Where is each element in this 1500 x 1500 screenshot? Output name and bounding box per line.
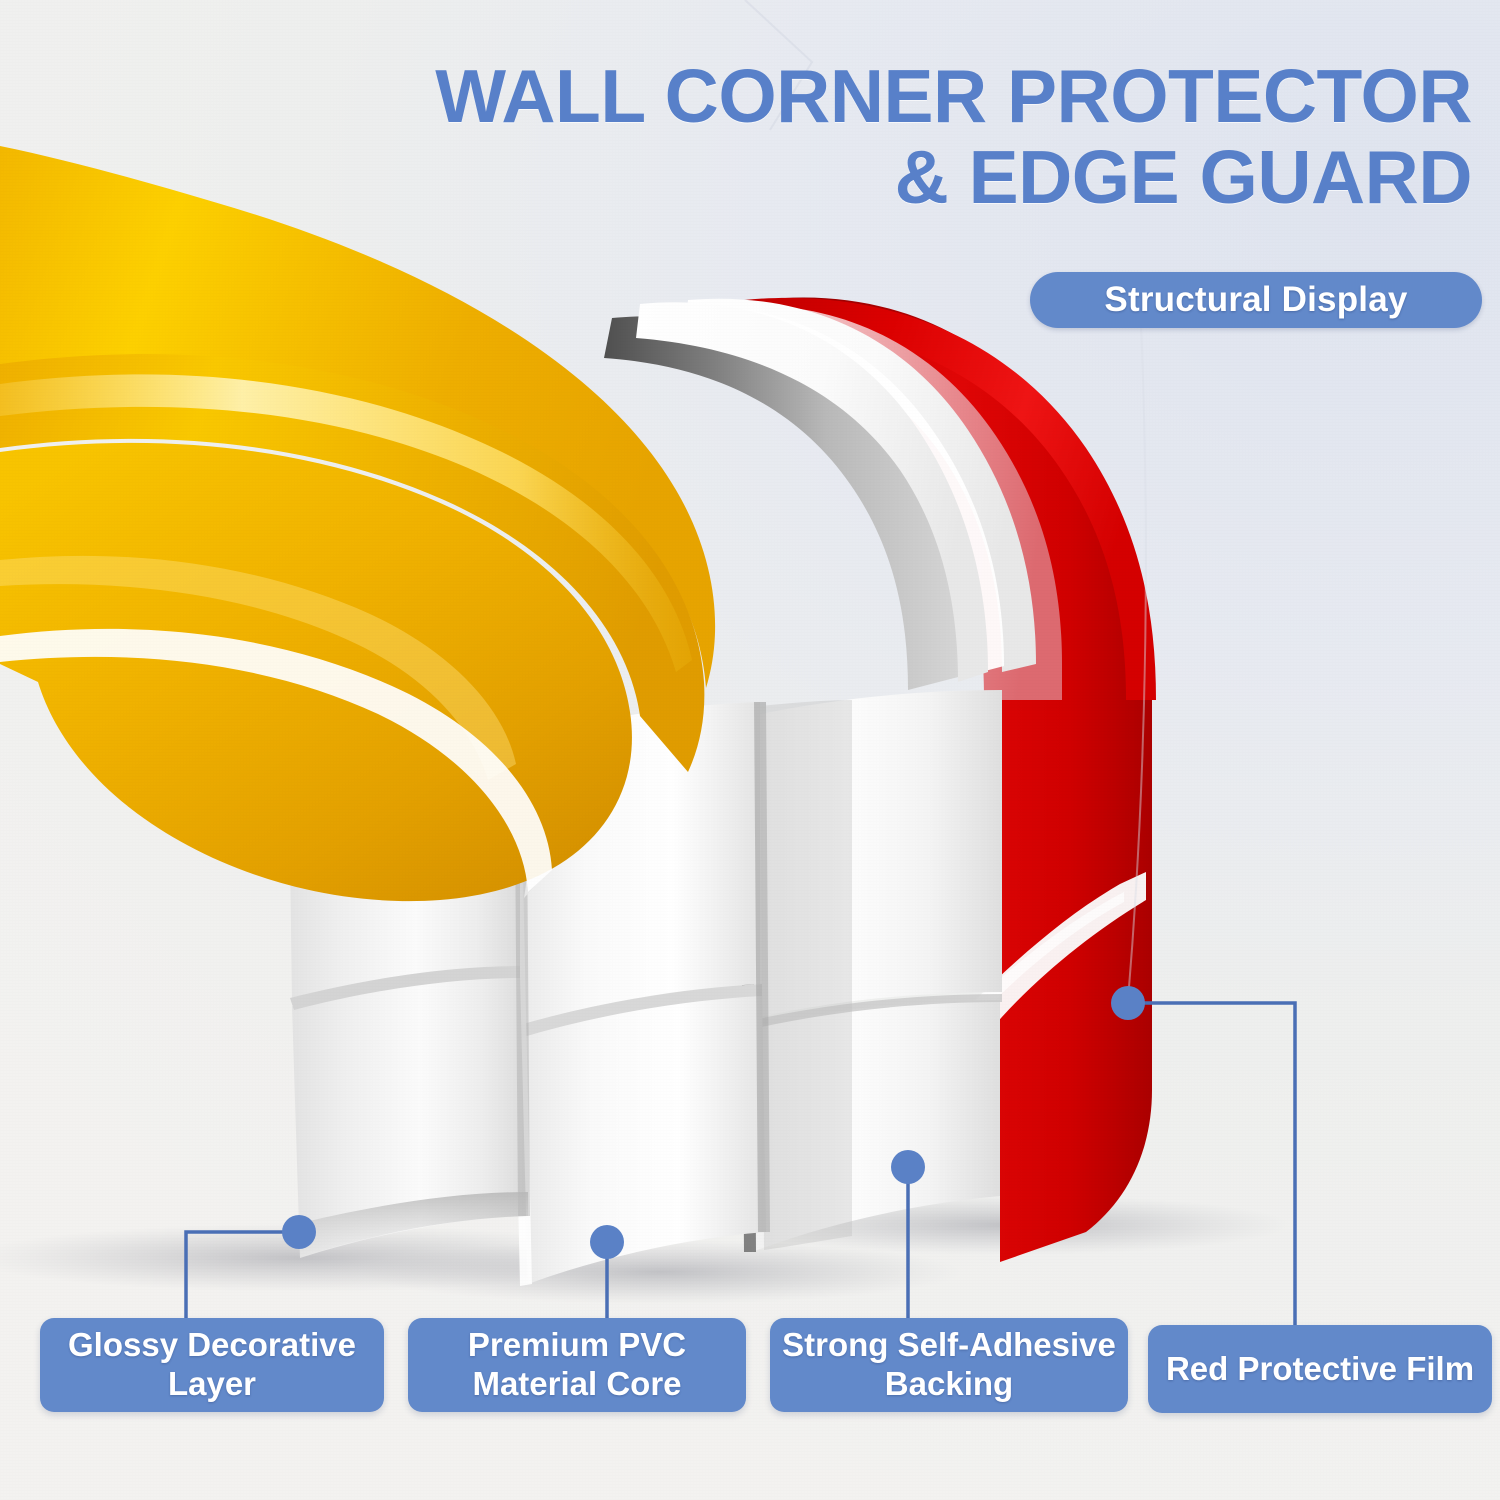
product-illustration <box>0 0 1500 1500</box>
callout-label-text-3: Red Protective Film <box>1166 1350 1474 1389</box>
title-line-2: & EDGE GUARD <box>0 139 1472 216</box>
callout-label-strong-self-adhesive-backing[interactable]: Strong Self-AdhesiveBacking <box>770 1318 1128 1412</box>
title-line-1: WALL CORNER PROTECTOR <box>0 58 1472 135</box>
badge-label: Structural Display <box>1104 280 1407 320</box>
callout-label-text-2: Strong Self-AdhesiveBacking <box>782 1326 1116 1404</box>
callout-label-text-1: Premium PVCMaterial Core <box>468 1326 686 1404</box>
structural-display-badge[interactable]: Structural Display <box>1030 272 1482 328</box>
pvc-core-face-lower <box>518 992 766 1284</box>
callout-label-text-0: Glossy DecorativeLayer <box>68 1326 356 1404</box>
callout-label-premium-pvc-material-core[interactable]: Premium PVCMaterial Core <box>408 1318 746 1412</box>
callout-label-glossy-decorative-layer[interactable]: Glossy DecorativeLayer <box>40 1318 384 1412</box>
infographic-canvas: WALL CORNER PROTECTOR & EDGE GUARD Struc… <box>0 0 1500 1500</box>
pvc-core-cast-shadow <box>760 700 852 1250</box>
callout-label-red-protective-film[interactable]: Red Protective Film <box>1148 1325 1492 1413</box>
page-title: WALL CORNER PROTECTOR & EDGE GUARD <box>0 58 1472 215</box>
